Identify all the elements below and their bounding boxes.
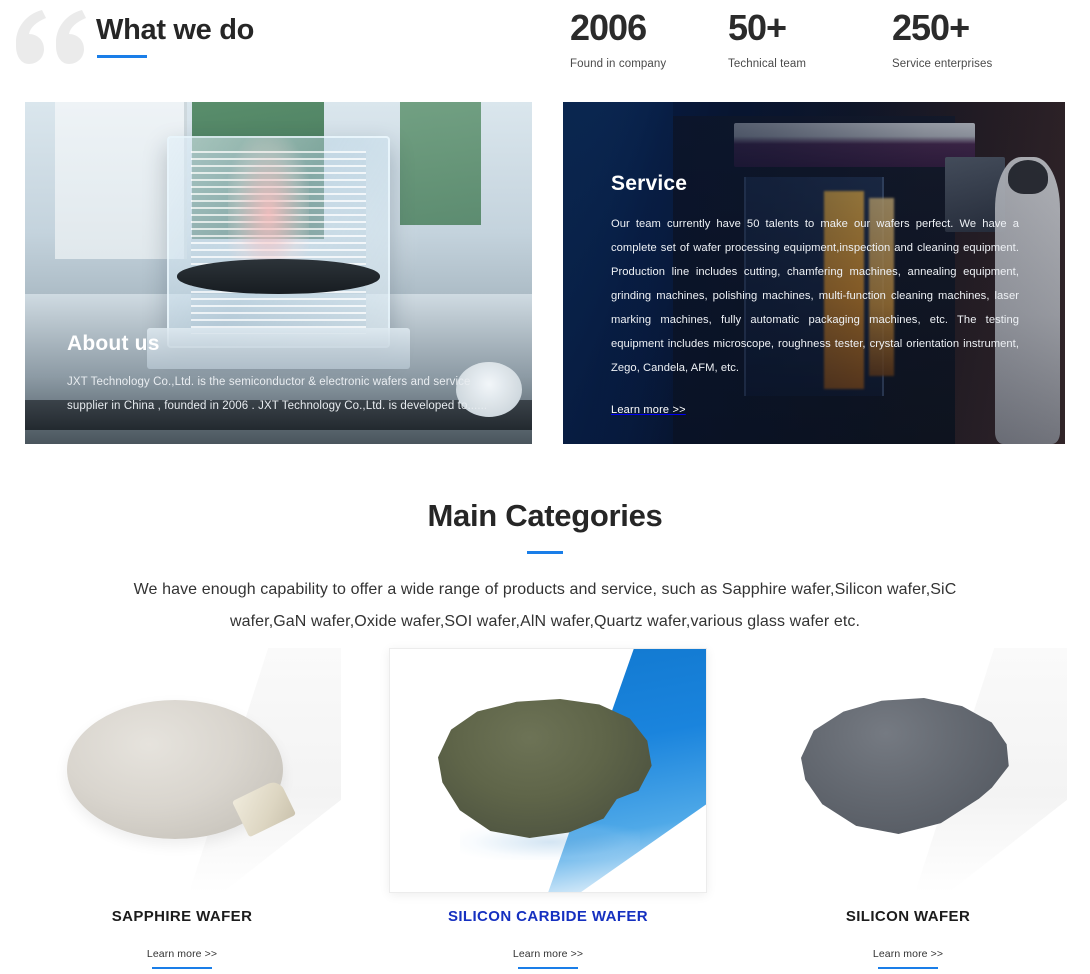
product-title-silicon-wafer[interactable]: SILICON WAFER	[749, 908, 1067, 925]
product-learn-more-silicon-carbide[interactable]: Learn more >>	[389, 944, 707, 969]
main-categories-title: Main Categories	[0, 498, 1090, 534]
stats-group: 2006 Found in company 50+ Technical team…	[560, 6, 1080, 80]
stat-item: 50+ Technical team	[728, 6, 806, 70]
stat-number: 250+	[892, 6, 992, 50]
about-us-card[interactable]: About us JXT Technology Co.,Ltd. is the …	[25, 102, 532, 444]
product-learn-more-underline	[518, 967, 578, 969]
product-learn-more-label: Learn more >>	[513, 948, 583, 960]
stat-number: 50+	[728, 6, 806, 50]
stat-item: 2006 Found in company	[570, 6, 666, 70]
product-learn-more-sapphire[interactable]: Learn more >>	[23, 944, 341, 969]
stat-label: Found in company	[570, 58, 666, 70]
product-cards-row: SAPPHIRE WAFER Learn more >> SILICON CAR…	[0, 648, 1090, 974]
product-learn-more-underline	[152, 967, 212, 969]
product-card-sapphire-wafer[interactable]	[23, 648, 341, 893]
what-we-do-header: What we do 2006 Found in company 50+ Tec…	[0, 0, 1090, 92]
service-card[interactable]: Service Our team currently have 50 talen…	[563, 102, 1065, 444]
page-title: What we do	[96, 14, 254, 47]
product-title-sapphire-wafer[interactable]: SAPPHIRE WAFER	[23, 908, 341, 925]
service-title: Service	[611, 172, 1031, 196]
service-learn-more-link[interactable]: Learn more >>	[611, 404, 686, 416]
stat-item: 250+ Service enterprises	[892, 6, 992, 70]
page-title-underline	[97, 55, 147, 58]
main-categories-description: We have enough capability to offer a wid…	[110, 574, 980, 638]
stat-label: Service enterprises	[892, 58, 992, 70]
product-card-silicon-wafer[interactable]	[749, 648, 1067, 893]
stat-label: Technical team	[728, 58, 806, 70]
quote-marks-icon	[12, 8, 90, 66]
service-description: Our team currently have 50 talents to ma…	[611, 212, 1019, 380]
product-learn-more-underline	[878, 967, 938, 969]
product-learn-more-label: Learn more >>	[873, 948, 943, 960]
product-card-silicon-carbide-wafer[interactable]	[389, 648, 707, 893]
main-categories-underline	[527, 551, 563, 554]
page-root: What we do 2006 Found in company 50+ Tec…	[0, 0, 1090, 974]
product-learn-more-label: Learn more >>	[147, 948, 217, 960]
product-title-silicon-carbide-wafer[interactable]: SILICON CARBIDE WAFER	[389, 908, 707, 925]
feature-cards-row: About us JXT Technology Co.,Ltd. is the …	[0, 102, 1090, 444]
stat-number: 2006	[570, 6, 666, 50]
about-us-title: About us	[67, 332, 497, 356]
service-learn-more-label: Learn more >>	[611, 404, 686, 416]
about-us-description: JXT Technology Co.,Ltd. is the semicondu…	[67, 370, 497, 418]
product-learn-more-silicon[interactable]: Learn more >>	[749, 944, 1067, 969]
